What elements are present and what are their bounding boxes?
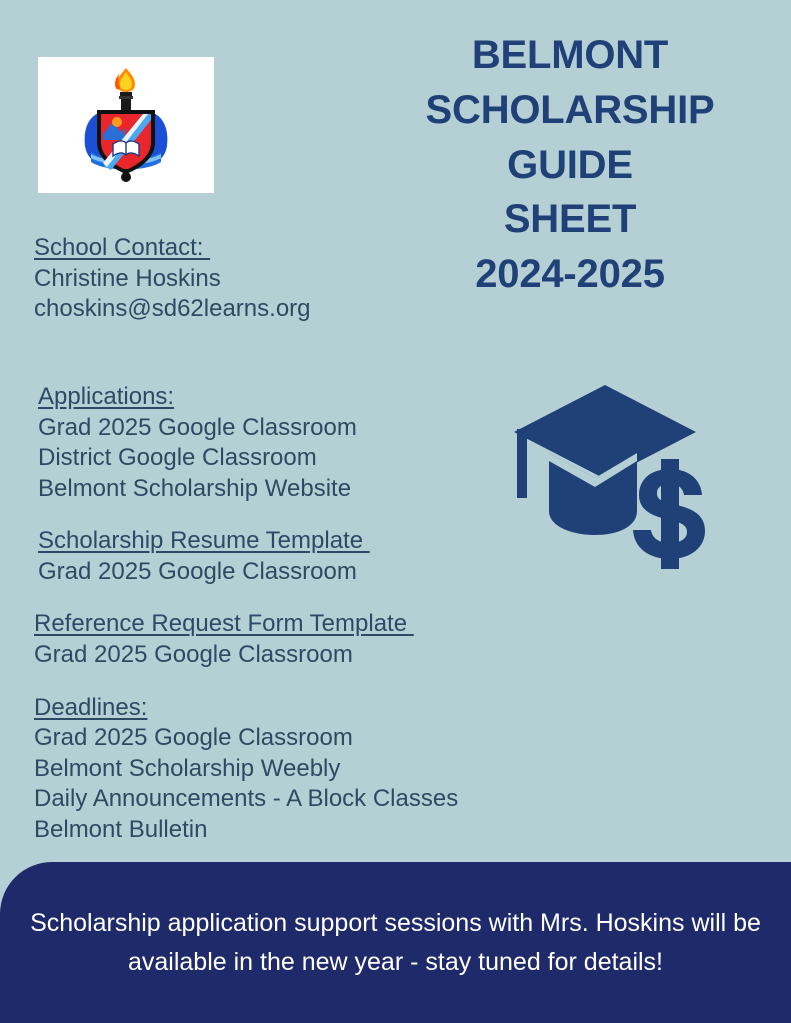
banner-text: Scholarship application support sessions… [8,904,784,982]
guide-sections: Applications: Grad 2025 Google Classroom… [34,382,458,845]
graduation-cap-dollar-icon [513,383,718,569]
section-item: Grad 2025 Google Classroom [34,640,458,670]
title-line-1: BELMONT [360,28,780,83]
section-heading: Reference Request Form Template [34,609,414,640]
section-item: Belmont Bulletin [34,815,458,845]
support-sessions-banner: Scholarship application support sessions… [0,862,791,1023]
section-item: Grad 2025 Google Classroom [38,413,458,443]
section-scholarship-resume-template: Scholarship Resume Template Grad 2025 Go… [34,526,458,587]
scholarship-guide-poster: BELMONT SCHOLARSHIP GUIDE SHEET 2024-202… [0,0,791,1023]
section-deadlines: Deadlines: Grad 2025 Google Classroom Be… [34,693,458,846]
title-line-3: GUIDE [360,138,780,193]
section-item: Grad 2025 Google Classroom [38,557,458,587]
title-line-5: 2024-2025 [360,247,780,302]
contact-email: choskins@sd62learns.org [34,294,311,325]
section-item: Belmont Scholarship Weebly [34,754,458,784]
contact-name: Christine Hoskins [34,264,311,295]
section-heading: Scholarship Resume Template [38,526,370,557]
page-title: BELMONT SCHOLARSHIP GUIDE SHEET 2024-202… [360,28,780,302]
section-reference-request-form-template: Reference Request Form Template Grad 202… [34,609,458,670]
school-logo-container [38,57,214,193]
school-crest-icon [51,66,201,184]
title-line-4: SHEET [360,192,780,247]
school-contact-block: School Contact: Christine Hoskins choski… [34,233,311,325]
section-item: Daily Announcements - A Block Classes [34,784,458,814]
title-line-2: SCHOLARSHIP [360,83,780,138]
section-item: Belmont Scholarship Website [38,474,458,504]
section-heading: Applications: [38,382,174,413]
section-heading: Deadlines: [34,693,147,724]
school-contact-heading: School Contact: [34,233,311,264]
section-item: District Google Classroom [38,443,458,473]
section-item: Grad 2025 Google Classroom [34,723,458,753]
section-applications: Applications: Grad 2025 Google Classroom… [34,382,458,504]
